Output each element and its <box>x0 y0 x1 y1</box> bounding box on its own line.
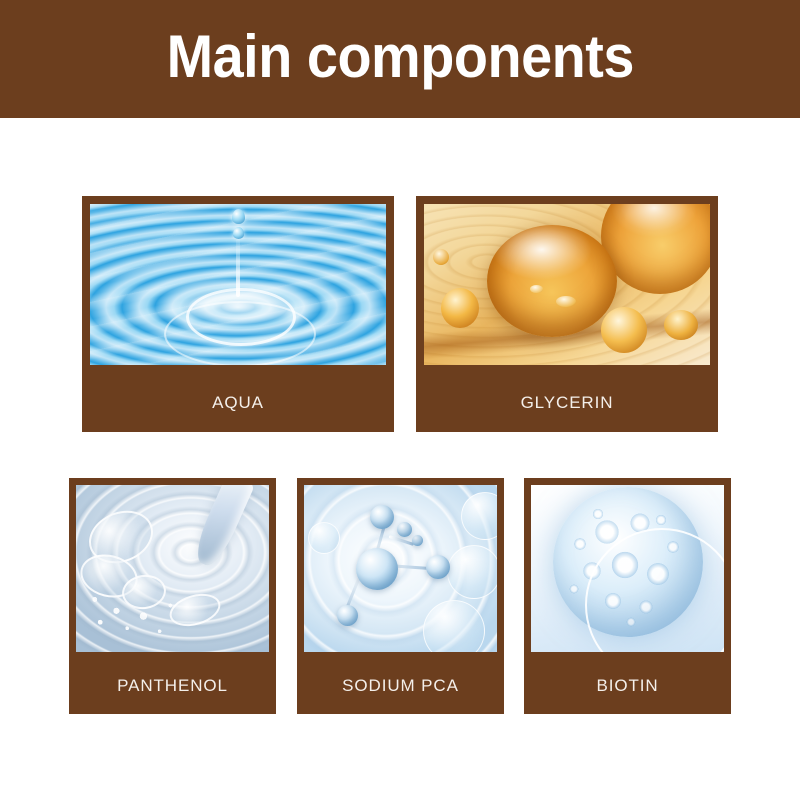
water-drop-small-icon <box>233 227 244 239</box>
gel-droplets <box>84 569 219 646</box>
card-label-sodium-pca: SODIUM PCA <box>304 676 497 696</box>
glycerin-image <box>424 204 710 365</box>
header-band: Main components <box>0 0 800 118</box>
water-bubble-4 <box>308 522 340 554</box>
component-card-aqua[interactable]: AQUA <box>82 196 394 432</box>
card-label-glycerin: GLYCERIN <box>424 393 710 413</box>
molecule-atom-top <box>370 505 394 529</box>
oil-bubble-left <box>441 288 479 328</box>
biotin-image <box>531 485 724 652</box>
water-bubble-2 <box>447 545 497 599</box>
card-label-panthenol: PANTHENOL <box>76 676 269 696</box>
molecule-atom-right <box>426 555 450 579</box>
card-label-biotin: BIOTIN <box>531 676 724 696</box>
oil-bubble-tiny-3 <box>530 285 543 293</box>
molecule-atom-bottom-left <box>337 605 358 626</box>
aqua-image <box>90 204 386 365</box>
panthenol-image <box>76 485 269 652</box>
molecule-atom-small-1 <box>397 522 412 537</box>
component-card-sodium-pca[interactable]: SODIUM PCA <box>297 478 504 714</box>
oil-bubble-main <box>487 225 617 337</box>
page-title: Main components <box>166 27 633 87</box>
oil-bubble-tiny-2 <box>556 296 576 307</box>
component-card-glycerin[interactable]: GLYCERIN <box>416 196 718 432</box>
oil-bubble-tiny-1 <box>433 249 449 265</box>
sodium-pca-image <box>304 485 497 652</box>
component-card-biotin[interactable]: BIOTIN <box>524 478 731 714</box>
component-card-panthenol[interactable]: PANTHENOL <box>69 478 276 714</box>
water-drop-icon <box>232 209 245 224</box>
ripple-outer <box>164 301 316 365</box>
card-label-aqua: AQUA <box>90 393 386 413</box>
